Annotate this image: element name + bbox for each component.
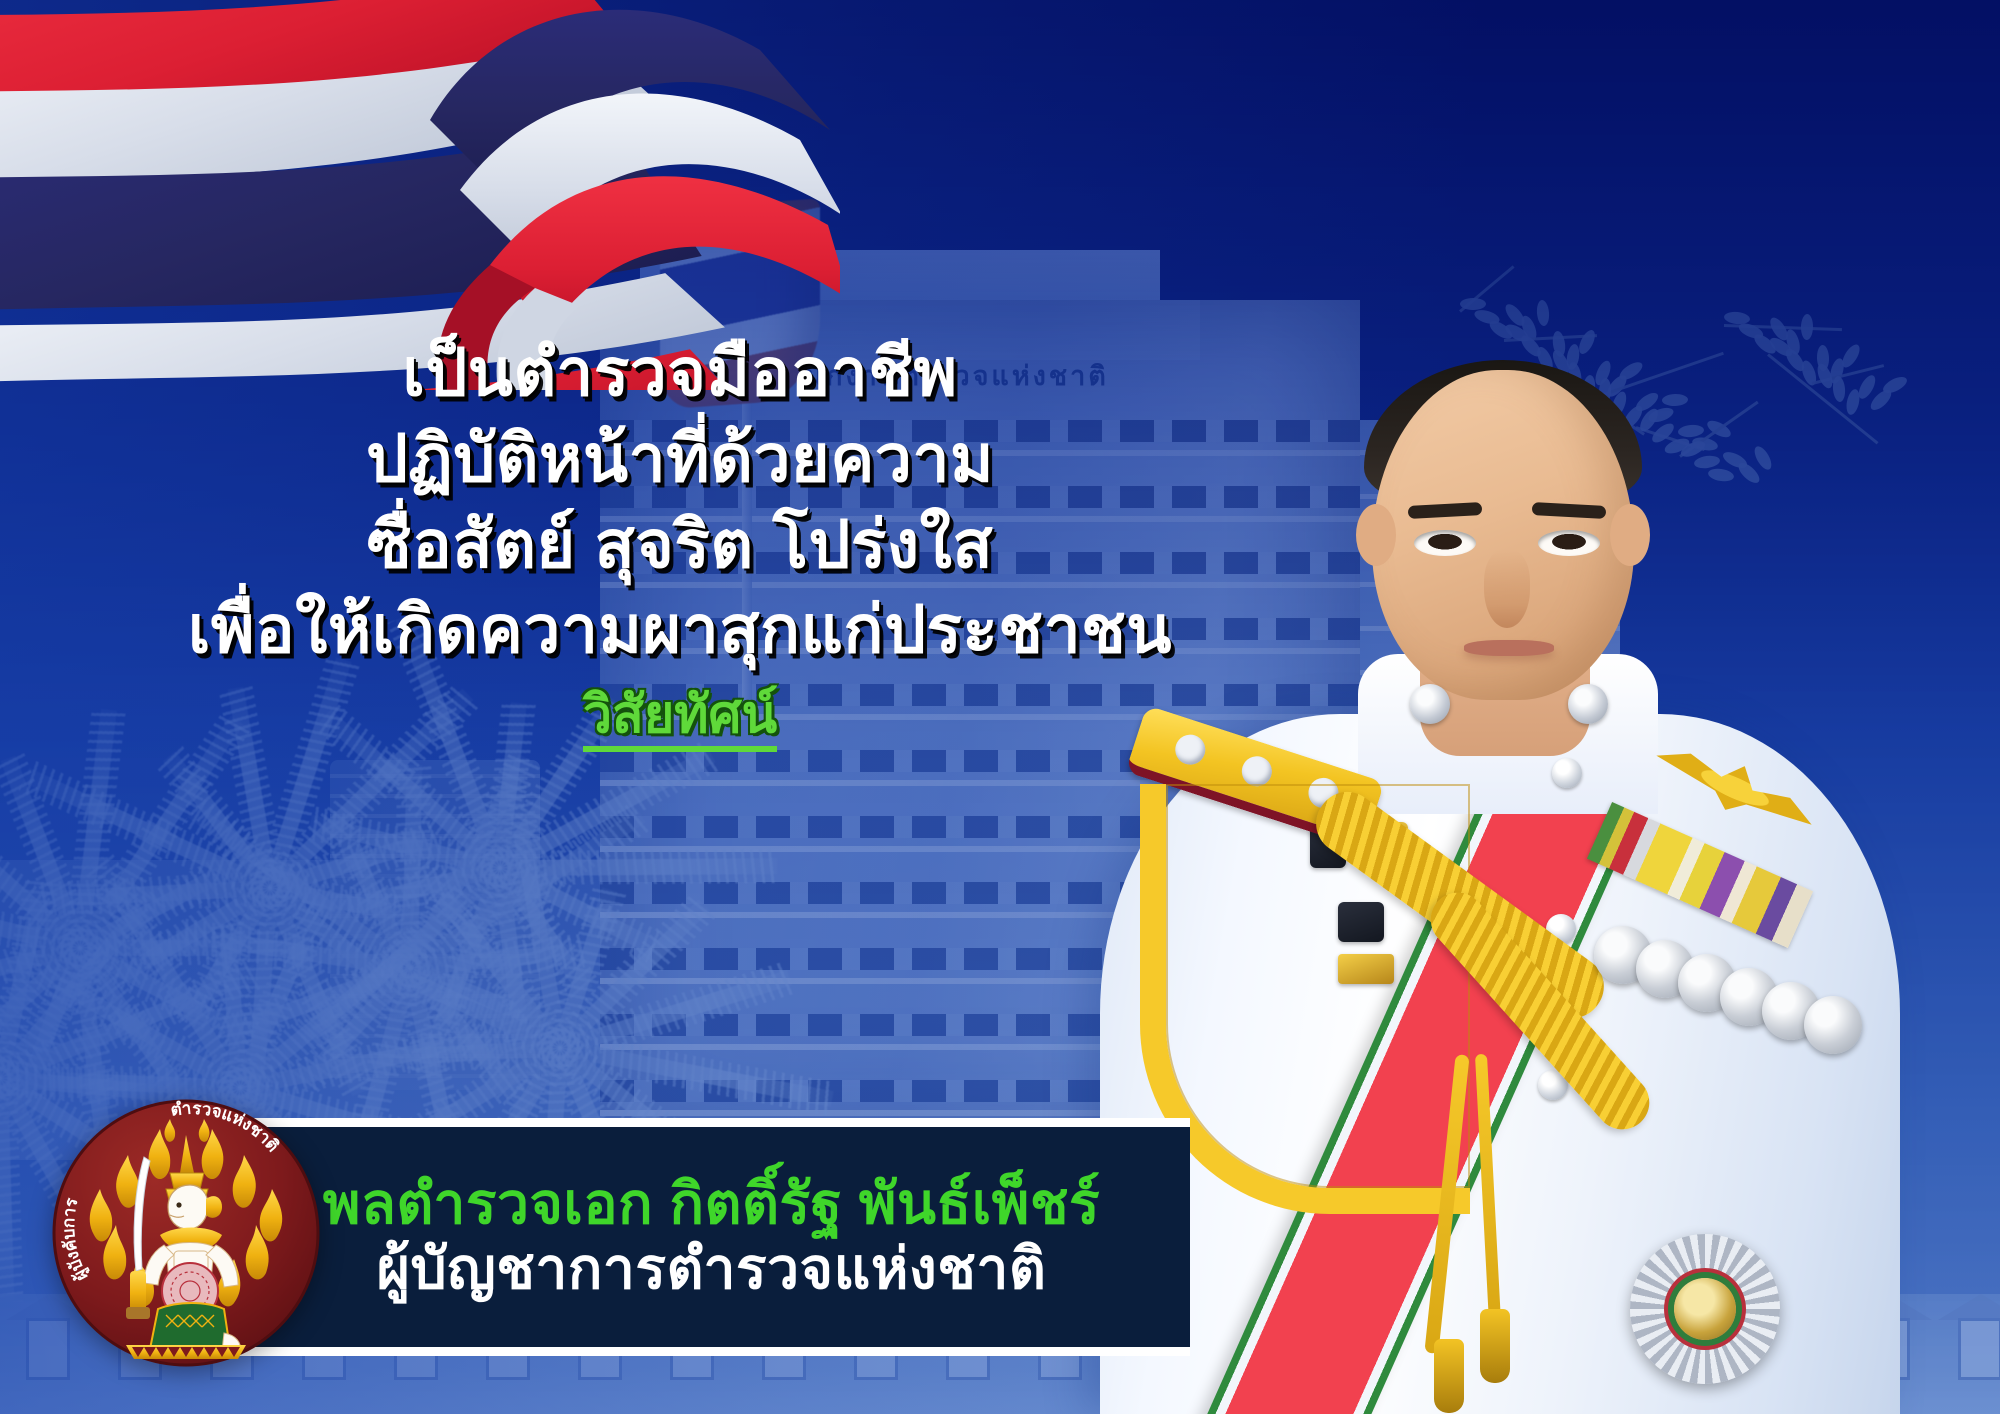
collar-insignia-right [1568, 684, 1608, 724]
eye-right [1538, 530, 1600, 556]
aiguillette-tip-2 [1480, 1309, 1510, 1383]
royal-thai-police-emblem: ผู้บังคับการ ตำรวจแห่งชาติ [48, 1095, 324, 1371]
name-banner: พลตำรวจเอก กิตติ์รัฐ พันธ์เพ็ชร์ ผู้บัญช… [233, 1118, 1190, 1356]
vision-label: วิสัยทัศน์ [583, 687, 777, 752]
rank-pip [1171, 731, 1209, 769]
breast-star-order [1630, 1234, 1780, 1384]
officer-position: ผู้บัญชาการตำรวจแห่งชาติ [377, 1238, 1047, 1301]
ear-right [1610, 504, 1650, 566]
uniform-button-1 [1552, 758, 1582, 788]
mouth [1464, 640, 1554, 656]
name-banner-inner: พลตำรวจเอก กิตติ์รัฐ พันธ์เพ็ชร์ ผู้บัญช… [233, 1127, 1190, 1347]
medal [1804, 996, 1862, 1054]
ear-left [1356, 504, 1396, 566]
nose [1484, 550, 1530, 628]
aiguillette-tip-1 [1434, 1339, 1464, 1413]
collar-insignia-left [1410, 684, 1450, 724]
officer-name: พลตำรวจเอก กิตติ์รัฐ พันธ์เพ็ชร์ [323, 1173, 1100, 1236]
eye-left [1414, 530, 1476, 556]
poster-root: สำนักงานตำรวจแห่งชาติ [0, 0, 2000, 1414]
